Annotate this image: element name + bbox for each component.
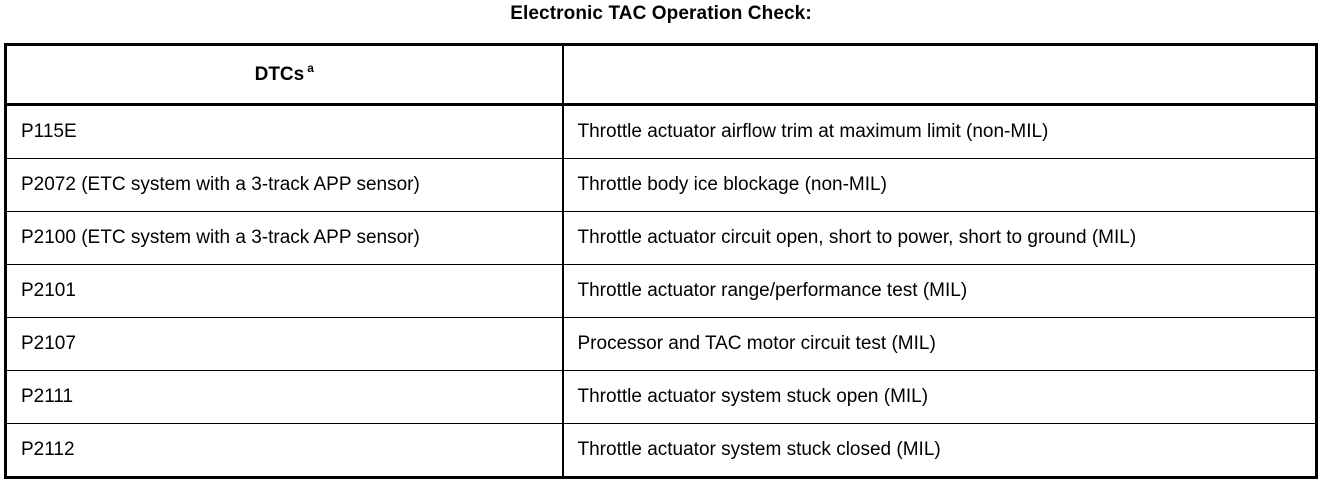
table-row: P2072 (ETC system with a 3-track APP sen… [6, 159, 1317, 212]
cell-description: Throttle actuator circuit open, short to… [563, 212, 1317, 265]
footnote-marker-a: a [307, 61, 314, 75]
table-row: P2100 (ETC system with a 3-track APP sen… [6, 212, 1317, 265]
table-header: DTCsa [6, 45, 1317, 105]
cell-description: Throttle actuator system stuck open (MIL… [563, 371, 1317, 424]
cell-dtc: P2101 [6, 265, 563, 318]
table-row: P2101 Throttle actuator range/performanc… [6, 265, 1317, 318]
cell-dtc: P2112 [6, 424, 563, 478]
cell-description: Throttle body ice blockage (non-MIL) [563, 159, 1317, 212]
cell-description: Processor and TAC motor circuit test (MI… [563, 318, 1317, 371]
cell-dtc: P2072 (ETC system with a 3-track APP sen… [6, 159, 563, 212]
table-row: P2111 Throttle actuator system stuck ope… [6, 371, 1317, 424]
table-body: P115E Throttle actuator airflow trim at … [6, 105, 1317, 478]
table-header-row: DTCsa [6, 45, 1317, 105]
column-header-description [563, 45, 1317, 105]
cell-description: Throttle actuator system stuck closed (M… [563, 424, 1317, 478]
document-page: Electronic TAC Operation Check: DTCsa P1… [0, 0, 1344, 482]
page-title: Electronic TAC Operation Check: [4, 2, 1318, 26]
cell-dtc: P115E [6, 105, 563, 159]
cell-dtc: P2111 [6, 371, 563, 424]
cell-dtc: P2107 [6, 318, 563, 371]
table-row: P115E Throttle actuator airflow trim at … [6, 105, 1317, 159]
cell-description: Throttle actuator airflow trim at maximu… [563, 105, 1317, 159]
column-header-dtcs: DTCsa [6, 45, 563, 105]
table-row: P2112 Throttle actuator system stuck clo… [6, 424, 1317, 478]
cell-dtc: P2100 (ETC system with a 3-track APP sen… [6, 212, 563, 265]
table-row: P2107 Processor and TAC motor circuit te… [6, 318, 1317, 371]
column-header-dtcs-label: DTCs [255, 64, 305, 86]
cell-description: Throttle actuator range/performance test… [563, 265, 1317, 318]
dtc-operation-check-table: DTCsa P115E Throttle actuator airflow tr… [4, 43, 1318, 479]
